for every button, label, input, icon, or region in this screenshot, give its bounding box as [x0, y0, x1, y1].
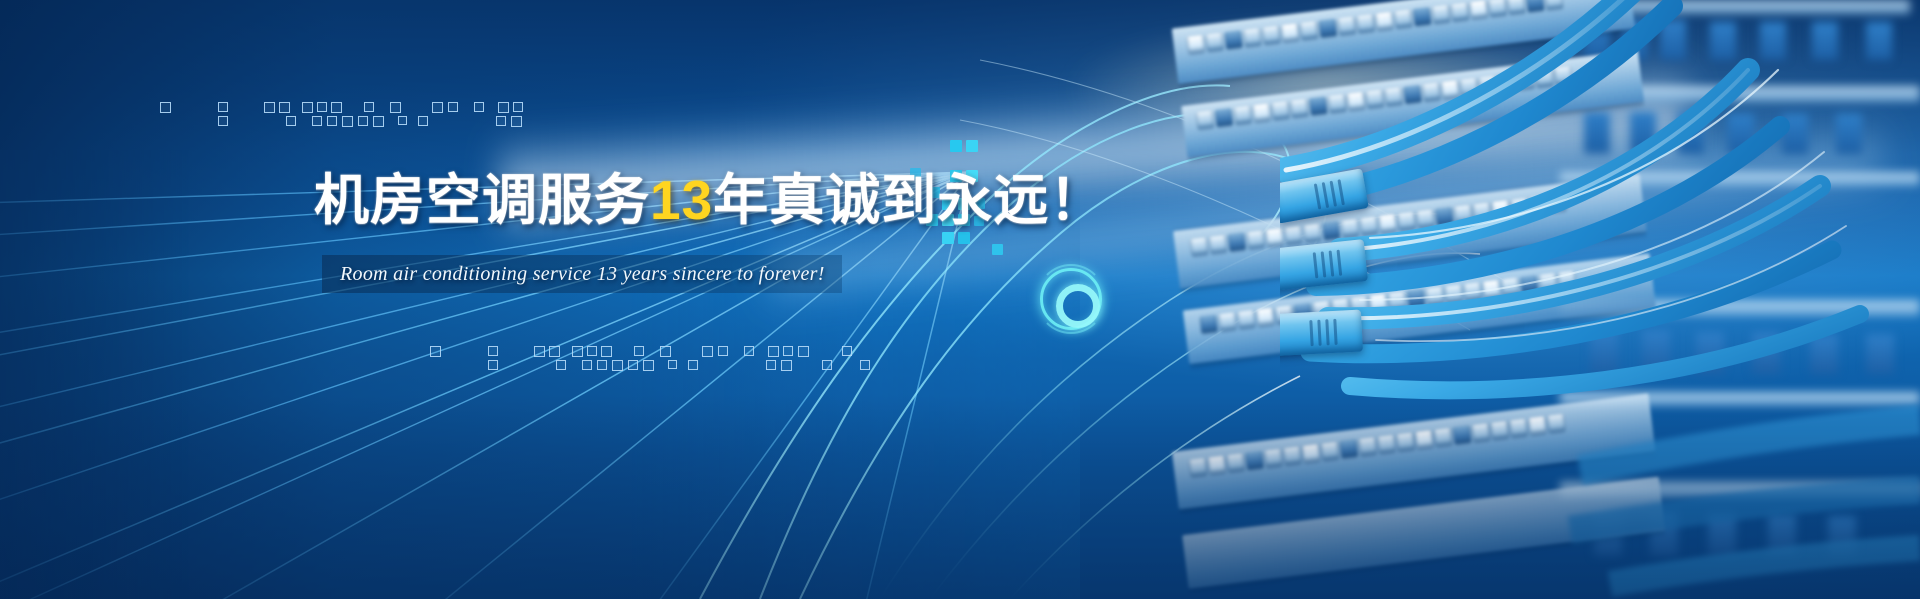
hero-banner: 机房空调服务13年真诚到永远！ Room air conditioning se… — [0, 0, 1920, 599]
square-mosaic-top — [160, 100, 580, 140]
square-mosaic-bottom — [430, 344, 890, 384]
glowing-ring-icon — [1040, 268, 1102, 330]
background-bottom-shade — [0, 395, 1920, 599]
rj45-connector-lower — [1280, 310, 1363, 357]
cyan-pixel-cluster — [888, 140, 998, 270]
